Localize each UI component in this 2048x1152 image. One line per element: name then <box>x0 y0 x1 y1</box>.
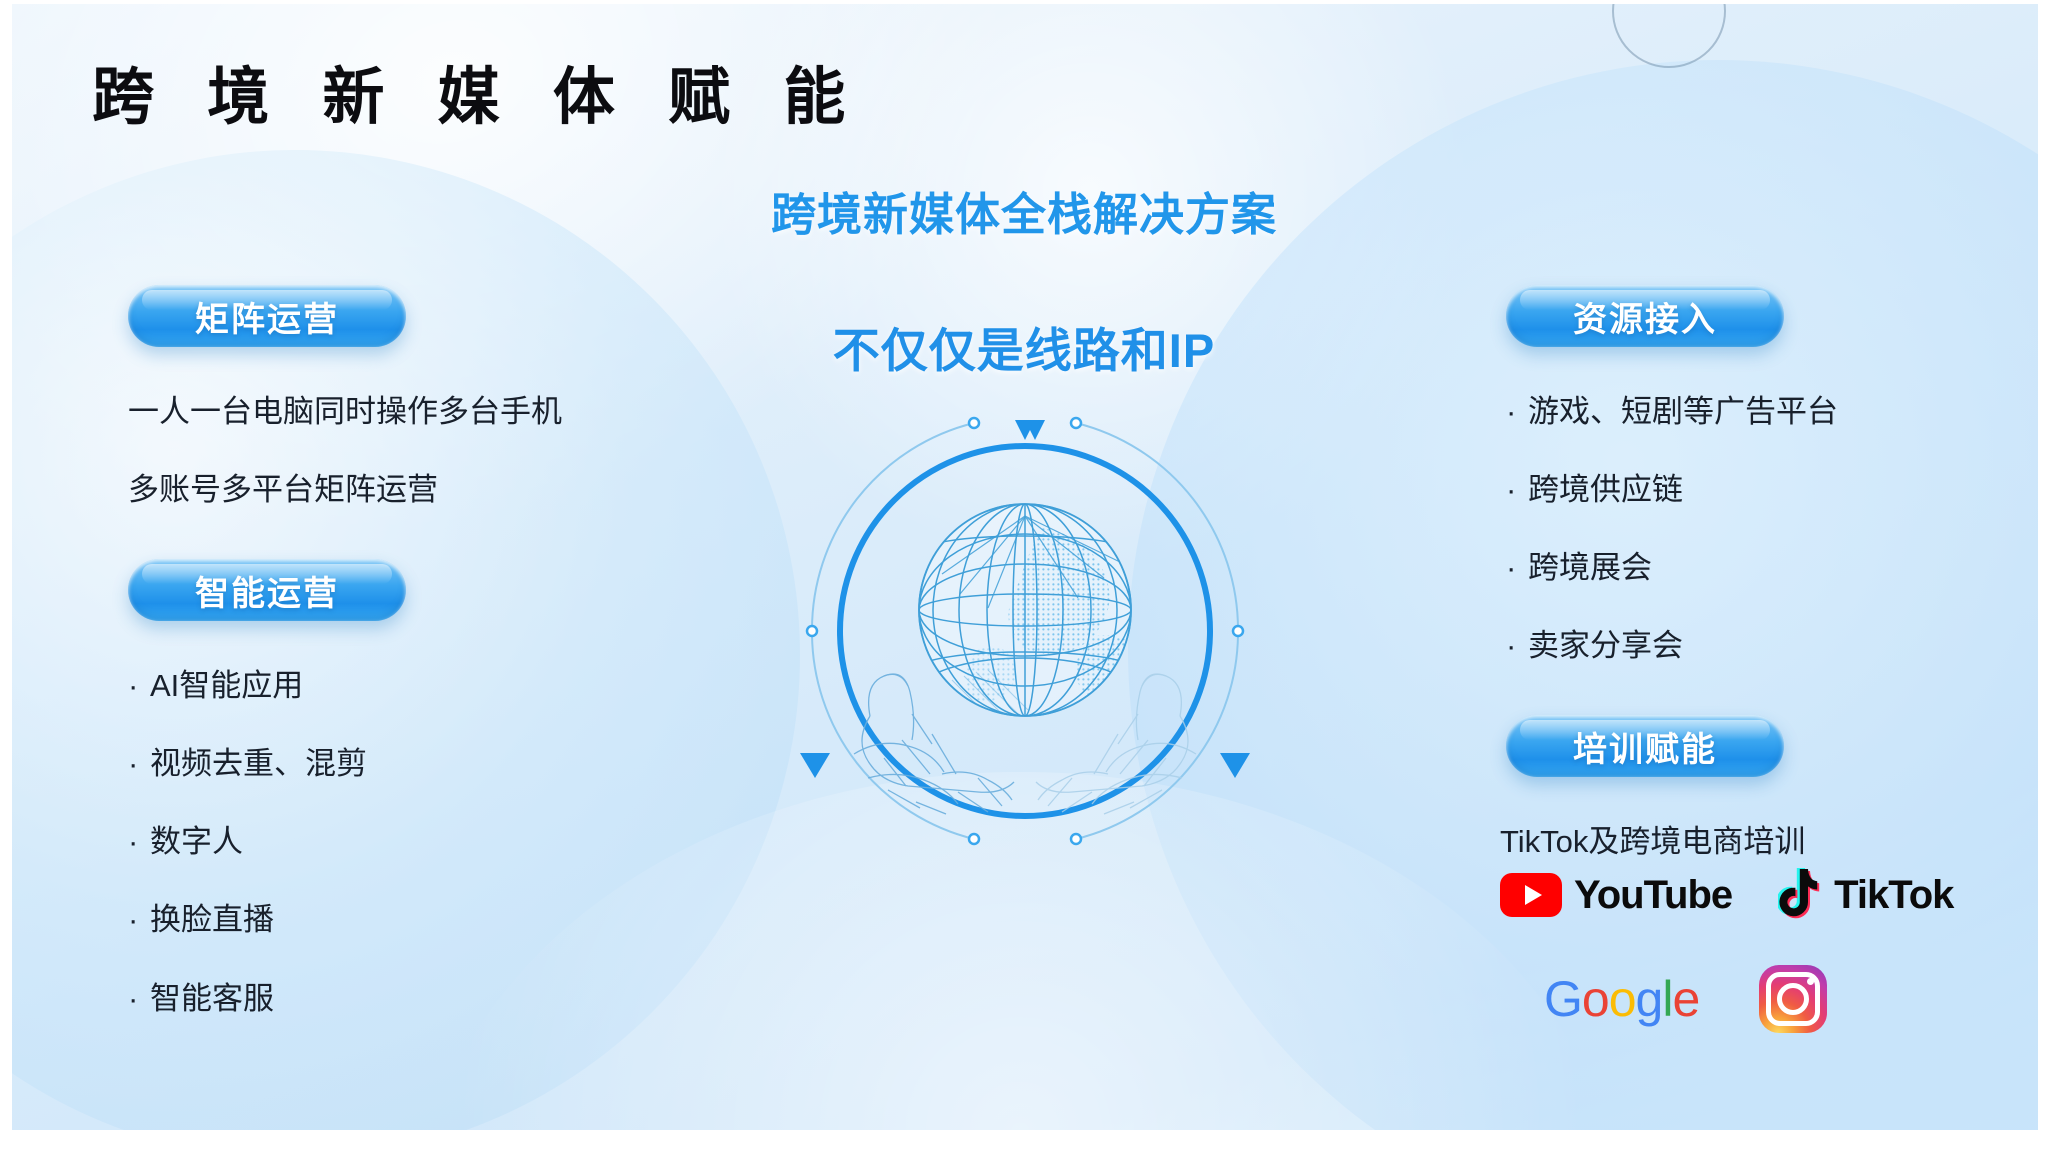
list-item: ·AI智能应用 <box>128 669 768 703</box>
bullet-icon: · <box>1506 551 1528 585</box>
list-item: ·游戏、短剧等广告平台 <box>1500 395 2048 429</box>
right-section-2-line-1: TikTok及跨境电商培训 <box>1500 825 2048 859</box>
right-section-1-pill-wrap: 资源接入 <box>1500 285 2048 347</box>
google-letter-g2: g <box>1636 971 1663 1027</box>
logo-row-2: Google <box>1500 964 2048 1034</box>
list-item-label: AI智能应用 <box>150 668 303 703</box>
pill-resource-access[interactable]: 资源接入 <box>1506 285 1784 347</box>
list-item-label: 视频去重、混剪 <box>150 746 367 781</box>
bullet-icon: · <box>128 982 150 1016</box>
pill-training-empowerment[interactable]: 培训赋能 <box>1506 715 1784 777</box>
youtube-play-icon <box>1500 873 1562 917</box>
list-item-label: 数字人 <box>150 824 243 859</box>
google-letter-o1: o <box>1582 971 1609 1027</box>
right-column: 资源接入 ·游戏、短剧等广告平台 ·跨境供应链 ·跨境展会 ·卖家分享会 培训赋… <box>1500 285 2048 859</box>
left-section-2-pill-wrap: 智能运营 <box>128 559 768 621</box>
pill-intelligent-operations[interactable]: 智能运营 <box>128 559 406 621</box>
youtube-label: YouTube <box>1574 873 1732 918</box>
pill-matrix-operations[interactable]: 矩阵运营 <box>128 285 406 347</box>
google-letter-e: e <box>1672 971 1699 1027</box>
google-logo[interactable]: Google <box>1544 970 1699 1028</box>
left-column: 矩阵运营 一人一台电脑同时操作多台手机 多账号多平台矩阵运营 智能运营 ·AI智… <box>128 285 768 1016</box>
globe-in-hands-graphic <box>792 398 1258 864</box>
google-letter-l: l <box>1662 971 1672 1027</box>
left-section-1-line-2: 多账号多平台矩阵运营 <box>128 473 768 507</box>
list-item: ·换脸直播 <box>128 903 768 937</box>
list-item: ·跨境展会 <box>1500 551 2048 585</box>
google-letter-g1: G <box>1544 971 1582 1027</box>
center-heading-primary: 跨境新媒体全栈解决方案 <box>0 178 2048 243</box>
logo-row-1: YouTube TikTok <box>1500 860 2048 930</box>
youtube-logo[interactable]: YouTube <box>1500 873 1732 918</box>
list-item: ·智能客服 <box>128 982 768 1016</box>
bullet-icon: · <box>1506 473 1528 507</box>
bullet-icon: · <box>128 747 150 781</box>
list-item-label: 游戏、短剧等广告平台 <box>1528 394 1838 429</box>
list-item-label: 换脸直播 <box>150 902 274 937</box>
tiktok-label: TikTok <box>1834 873 1953 918</box>
right-section-2-pill-wrap: 培训赋能 <box>1500 715 2048 777</box>
platform-logos: YouTube TikTok Google <box>1500 860 2048 1034</box>
tiktok-logo[interactable]: TikTok <box>1778 867 1953 924</box>
bullet-icon: · <box>128 825 150 859</box>
list-item-label: 跨境供应链 <box>1528 472 1683 507</box>
list-item: ·视频去重、混剪 <box>128 747 768 781</box>
bullet-icon: · <box>1506 629 1528 663</box>
slide-root: 跨 境 新 媒 体 赋 能 跨境新媒体全栈解决方案 不仅仅是线路和IP <box>0 0 2048 1152</box>
google-letter-o2: o <box>1609 971 1636 1027</box>
list-item: ·卖家分享会 <box>1500 629 2048 663</box>
tiktok-note-icon <box>1778 867 1824 924</box>
list-item-label: 卖家分享会 <box>1528 628 1683 663</box>
page-title: 跨 境 新 媒 体 赋 能 <box>92 46 863 136</box>
bullet-icon: · <box>1506 395 1528 429</box>
bullet-icon: · <box>128 669 150 703</box>
bullet-icon: · <box>128 903 150 937</box>
list-item: ·跨境供应链 <box>1500 473 2048 507</box>
left-section-1-line-1: 一人一台电脑同时操作多台手机 <box>128 395 768 429</box>
instagram-logo[interactable] <box>1759 965 1827 1033</box>
list-item: ·数字人 <box>128 825 768 859</box>
list-item-label: 跨境展会 <box>1528 550 1652 585</box>
left-section-1-pill-wrap: 矩阵运营 <box>128 285 768 347</box>
list-item-label: 智能客服 <box>150 981 274 1016</box>
